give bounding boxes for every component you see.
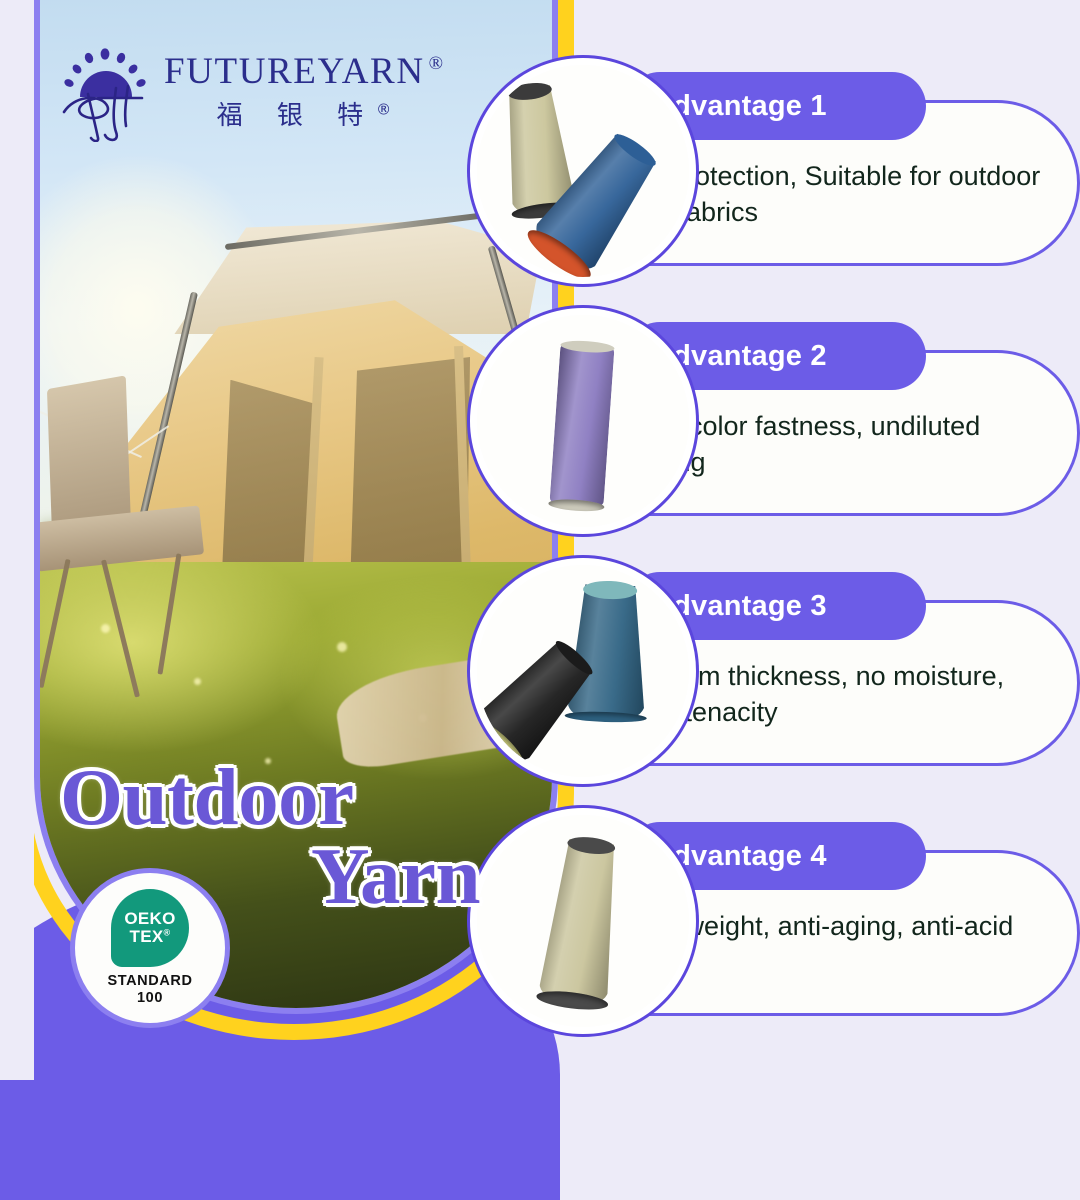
brand-wordmark: FUTUREYARN® 福 银 特®	[164, 53, 445, 132]
advantage-image-bubble	[470, 808, 696, 1034]
advantage-row: Advantage 3Uniform thickness, no moistur…	[470, 558, 1080, 798]
yarn-cones-khaki-and-blue-icon	[477, 65, 689, 277]
brand-name-cn: 福 银 特®	[205, 95, 405, 132]
oeko-line1: OEKO	[124, 910, 175, 928]
advantage-row: Advantage 4Lightweight, anti-aging, anti…	[470, 808, 1080, 1048]
registered-mark: ®	[376, 100, 404, 118]
yarn-cone-body	[538, 837, 627, 1004]
yarn-cones-steelblue-and-black-icon	[477, 565, 689, 777]
brand-name-en-text: FUTUREYARN	[164, 51, 425, 92]
brand-logo: FUTUREYARN® 福 银 特®	[58, 42, 445, 142]
infographic-canvas: FUTUREYARN® 福 银 特® Outdoor Yarn OEKO TEX…	[0, 0, 1080, 1080]
advantage-image-bubble	[470, 58, 696, 284]
advantage-image-bubble	[470, 308, 696, 534]
yarn-tube-purple-icon	[477, 315, 689, 527]
yarn-cone	[538, 837, 627, 1004]
brand-name-cn-text: 福 银 特	[217, 101, 377, 131]
yarn-cone	[549, 343, 614, 506]
yarn-cone-khaki-icon	[477, 815, 689, 1027]
advantage-image-bubble	[470, 558, 696, 784]
oeko-line2-text: TEX	[130, 927, 164, 946]
page-title-line1: Outdoor	[60, 758, 480, 837]
registered-mark: ®	[429, 53, 445, 74]
oeko-line2: TEX®	[130, 928, 171, 946]
brand-name-en: FUTUREYARN®	[164, 53, 445, 90]
advantage-row: Advantage 1UV protection, Suitable for o…	[470, 58, 1080, 298]
oeko-standard-label: STANDARD	[107, 973, 192, 990]
oeko-standard-number: 100	[107, 990, 192, 1007]
oeko-tex-droplet-icon: OEKO TEX®	[111, 889, 189, 967]
registered-mark: ®	[164, 927, 171, 937]
oeko-tex-badge: OEKO TEX® STANDARD 100	[70, 868, 230, 1028]
sunrise-fy-monogram-icon	[58, 42, 154, 142]
oeko-standard-text: STANDARD 100	[107, 973, 192, 1007]
yarn-cone-body	[549, 343, 614, 506]
advantage-row: Advantage 2High color fastness, undilute…	[470, 308, 1080, 548]
